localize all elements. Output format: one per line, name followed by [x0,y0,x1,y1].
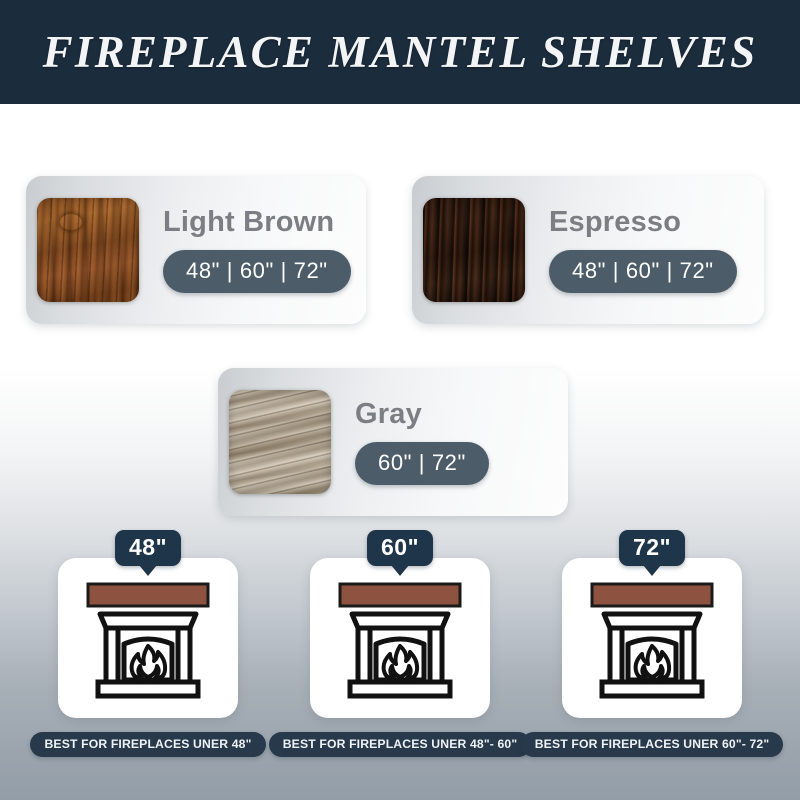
size-guide-item-60[interactable]: 60" BEST FOR FIREPLACES UNER 48"- 60" [274,530,526,757]
color-name-label: Light Brown [163,208,351,237]
size-options-pill[interactable]: 48" | 60" | 72" [163,250,351,293]
size-guide-caption: BEST FOR FIREPLACES UNER 48" [30,732,265,757]
size-bubble-label: 60" [367,530,433,566]
espresso-wood-swatch [423,198,525,302]
size-guide-caption: BEST FOR FIREPLACES UNER 60"- 72" [521,732,784,757]
gray-wood-swatch [229,390,331,494]
size-options-pill[interactable]: 48" | 60" | 72" [549,250,737,293]
light-brown-wood-swatch [37,198,139,302]
size-guide-caption: BEST FOR FIREPLACES UNER 48"- 60" [269,732,532,757]
size-guide-section: 48" BEST FOR FIREPLACES UNER 48" 60" [0,530,800,800]
size-bubble-label: 48" [115,530,181,566]
fireplace-icon-tile [58,558,238,718]
size-guide-item-48[interactable]: 48" BEST FOR FIREPLACES UNER 48" [22,530,274,757]
color-card-body: Gray 60" | 72" [355,400,489,485]
header-banner: FIREPLACE MANTEL SHELVES [0,0,800,104]
color-card-gray[interactable]: Gray 60" | 72" [218,368,568,516]
size-guide-item-72[interactable]: 72" BEST FOR FIREPLACES UNER 60"- 72" [526,530,778,757]
color-options-section: Light Brown 48" | 60" | 72" Espresso 48"… [0,104,800,524]
wood-knot-icon [60,214,82,230]
fireplace-icon [332,578,468,704]
color-card-body: Light Brown 48" | 60" | 72" [163,208,351,293]
fireplace-icon [584,578,720,704]
color-card-body: Espresso 48" | 60" | 72" [549,208,737,293]
size-bubble-label: 72" [619,530,685,566]
fireplace-icon-tile [562,558,742,718]
size-options-pill[interactable]: 60" | 72" [355,442,489,485]
page-title: FIREPLACE MANTEL SHELVES [43,26,758,78]
fireplace-icon [80,578,216,704]
color-name-label: Gray [355,400,489,429]
color-name-label: Espresso [549,208,737,237]
color-card-light-brown[interactable]: Light Brown 48" | 60" | 72" [26,176,366,324]
color-card-espresso[interactable]: Espresso 48" | 60" | 72" [412,176,764,324]
fireplace-icon-tile [310,558,490,718]
